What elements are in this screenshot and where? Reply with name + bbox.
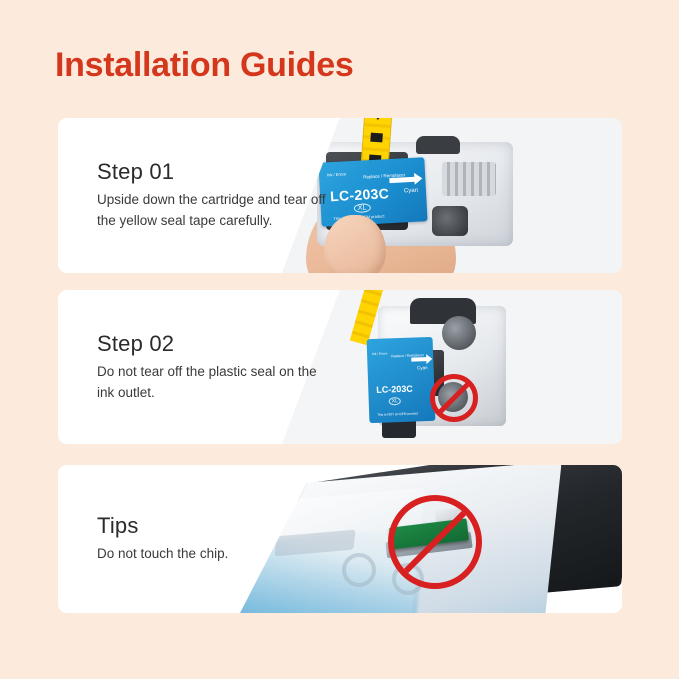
cartridge-round-port xyxy=(442,316,476,350)
arrow-right-icon xyxy=(411,357,427,362)
cartridge-color-name: Cyan xyxy=(417,365,428,370)
tips-text-block: Tips Do not touch the chip. xyxy=(97,465,377,613)
cartridge-ink-port xyxy=(432,206,468,236)
cartridge-yield-mark: XL xyxy=(389,397,401,405)
arrow-right-icon xyxy=(389,177,415,183)
cartridge-model: LC-203C xyxy=(376,384,413,395)
step-02-title: Step 02 xyxy=(97,331,377,357)
guide-card-tips: Tips Do not touch the chip. xyxy=(58,465,622,613)
guide-card-step-02: Ink / Encre Replace / Remplacer Cyan LC-… xyxy=(58,290,622,444)
step-01-title: Step 01 xyxy=(97,159,377,185)
cartridge-ribs xyxy=(442,162,496,196)
cartridge-footnote: This is NOT an OEM product xyxy=(377,411,418,416)
step-01-text-block: Step 01 Upside down the cartridge and te… xyxy=(97,118,377,273)
cartridge-color-name: Cyan xyxy=(404,188,418,195)
page-title: Installation Guides xyxy=(55,46,353,85)
prohibition-sign-icon xyxy=(388,495,482,589)
tips-description: Do not touch the chip. xyxy=(97,544,333,565)
step-02-text-block: Step 02 Do not tear off the plastic seal… xyxy=(97,290,377,444)
step-02-description: Do not tear off the plastic seal on the … xyxy=(97,362,333,404)
step-01-description: Upside down the cartridge and tear off t… xyxy=(97,190,333,232)
tips-title: Tips xyxy=(97,513,377,539)
installation-guides-page: Installation Guides Ink / Encre Replace … xyxy=(0,0,679,679)
cartridge-top-knob xyxy=(416,136,460,154)
prohibition-sign-icon xyxy=(430,374,478,422)
guide-card-step-01: Ink / Encre Replace / Remplacer Cyan LC-… xyxy=(58,118,622,273)
